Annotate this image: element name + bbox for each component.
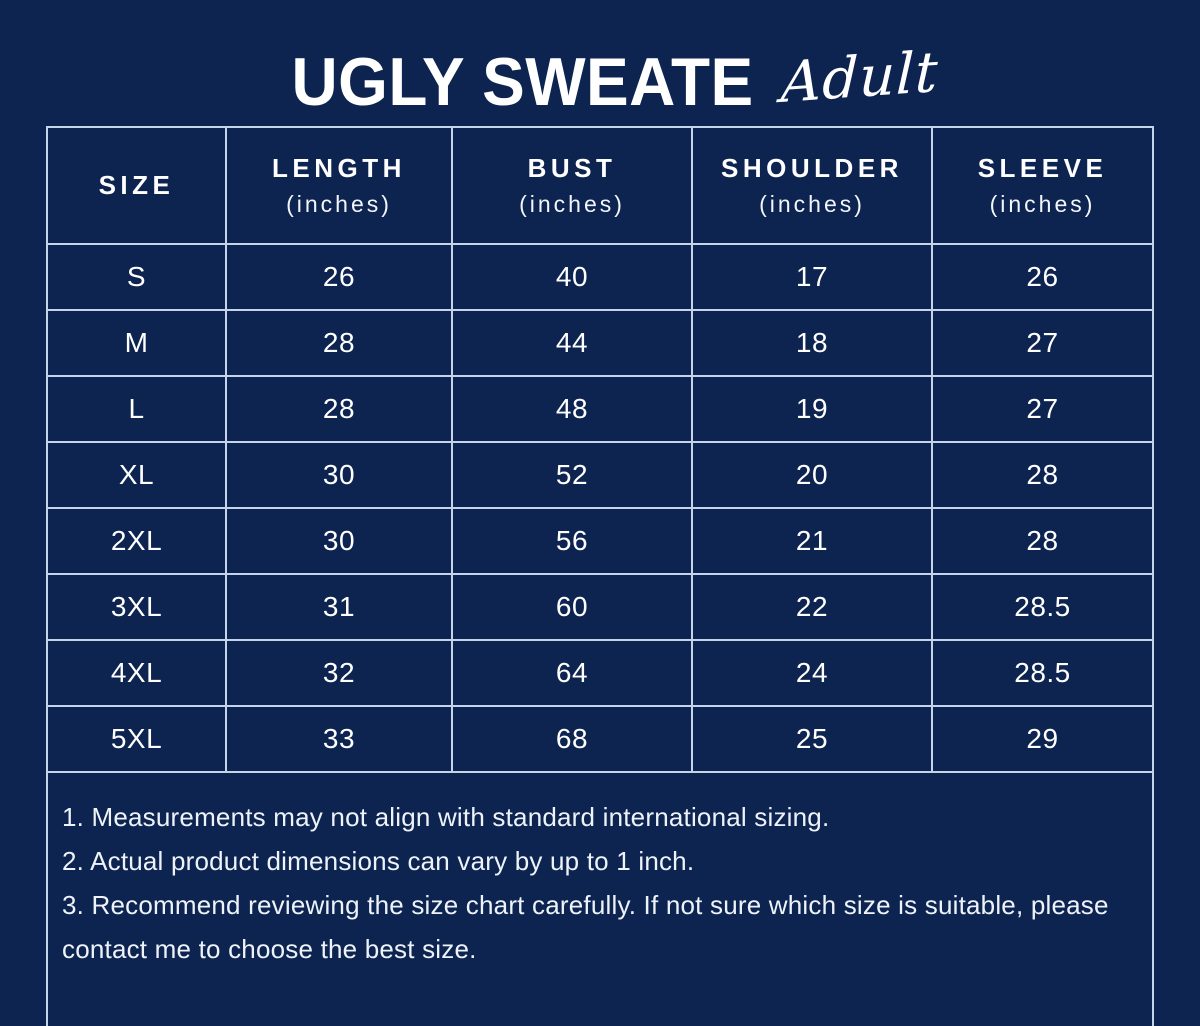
cell-bust: 60 <box>452 574 692 640</box>
cell-size: 2XL <box>48 508 226 574</box>
cell-shoulder: 25 <box>692 706 932 772</box>
table-row: 4XL 32 64 24 28.5 <box>48 640 1152 706</box>
table-header: SIZE LENGTH (inches) BUST (inches) SHOUL… <box>48 128 1152 244</box>
size-chart-container: SIZE LENGTH (inches) BUST (inches) SHOUL… <box>46 126 1154 1026</box>
column-header-bust-unit: (inches) <box>457 191 687 218</box>
cell-length: 33 <box>226 706 452 772</box>
cell-length: 26 <box>226 244 452 310</box>
column-header-sleeve: SLEEVE (inches) <box>932 128 1152 244</box>
cell-bust: 48 <box>452 376 692 442</box>
table-row: XL 30 52 20 28 <box>48 442 1152 508</box>
cell-sleeve: 26 <box>932 244 1152 310</box>
column-header-length: LENGTH (inches) <box>226 128 452 244</box>
cell-shoulder: 24 <box>692 640 932 706</box>
table-row: L 28 48 19 27 <box>48 376 1152 442</box>
table-row: 2XL 30 56 21 28 <box>48 508 1152 574</box>
cell-bust: 44 <box>452 310 692 376</box>
cell-length: 32 <box>226 640 452 706</box>
column-header-shoulder-unit: (inches) <box>697 191 927 218</box>
table-row: S 26 40 17 26 <box>48 244 1152 310</box>
column-header-bust-label: BUST <box>528 153 617 183</box>
cell-size: S <box>48 244 226 310</box>
cell-shoulder: 19 <box>692 376 932 442</box>
cell-sleeve: 28 <box>932 508 1152 574</box>
note-item: 3. Recommend reviewing the size chart ca… <box>62 883 1136 971</box>
cell-length: 30 <box>226 442 452 508</box>
title-script-accent: Adult <box>780 43 940 114</box>
cell-length: 30 <box>226 508 452 574</box>
column-header-size-label: SIZE <box>99 170 175 200</box>
cell-shoulder: 21 <box>692 508 932 574</box>
column-header-sleeve-unit: (inches) <box>937 191 1148 218</box>
cell-shoulder: 17 <box>692 244 932 310</box>
cell-sleeve: 28.5 <box>932 640 1152 706</box>
note-item: 2. Actual product dimensions can vary by… <box>62 839 1136 883</box>
column-header-shoulder-label: SHOULDER <box>721 153 903 183</box>
column-header-length-unit: (inches) <box>231 191 447 218</box>
notes-section: 1. Measurements may not align with stand… <box>48 773 1152 971</box>
chart-title: UGLY SWEATE Adult <box>0 26 1200 118</box>
cell-sleeve: 28 <box>932 442 1152 508</box>
cell-sleeve: 27 <box>932 310 1152 376</box>
column-header-length-label: LENGTH <box>272 153 406 183</box>
cell-size: M <box>48 310 226 376</box>
column-header-sleeve-label: SLEEVE <box>978 153 1108 183</box>
cell-shoulder: 18 <box>692 310 932 376</box>
cell-length: 28 <box>226 310 452 376</box>
table-body: S 26 40 17 26 M 28 44 18 27 L 28 48 <box>48 244 1152 772</box>
cell-bust: 56 <box>452 508 692 574</box>
cell-bust: 52 <box>452 442 692 508</box>
size-chart-page: UGLY SWEATE Adult SIZE LENGTH (inches) <box>0 0 1200 1005</box>
cell-bust: 64 <box>452 640 692 706</box>
page-title: UGLY SWEATE <box>292 46 754 118</box>
cell-sleeve: 29 <box>932 706 1152 772</box>
cell-length: 31 <box>226 574 452 640</box>
table-row: 5XL 33 68 25 29 <box>48 706 1152 772</box>
cell-size: 4XL <box>48 640 226 706</box>
cell-shoulder: 20 <box>692 442 932 508</box>
cell-size: 3XL <box>48 574 226 640</box>
table-row: M 28 44 18 27 <box>48 310 1152 376</box>
cell-bust: 40 <box>452 244 692 310</box>
header-row: SIZE LENGTH (inches) BUST (inches) SHOUL… <box>48 128 1152 244</box>
column-header-size: SIZE <box>48 128 226 244</box>
table-row: 3XL 31 60 22 28.5 <box>48 574 1152 640</box>
column-header-bust: BUST (inches) <box>452 128 692 244</box>
cell-size: L <box>48 376 226 442</box>
column-header-shoulder: SHOULDER (inches) <box>692 128 932 244</box>
note-item: 1. Measurements may not align with stand… <box>62 795 1136 839</box>
cell-shoulder: 22 <box>692 574 932 640</box>
size-table: SIZE LENGTH (inches) BUST (inches) SHOUL… <box>48 128 1152 773</box>
cell-sleeve: 28.5 <box>932 574 1152 640</box>
cell-sleeve: 27 <box>932 376 1152 442</box>
cell-size: XL <box>48 442 226 508</box>
cell-length: 28 <box>226 376 452 442</box>
cell-bust: 68 <box>452 706 692 772</box>
cell-size: 5XL <box>48 706 226 772</box>
